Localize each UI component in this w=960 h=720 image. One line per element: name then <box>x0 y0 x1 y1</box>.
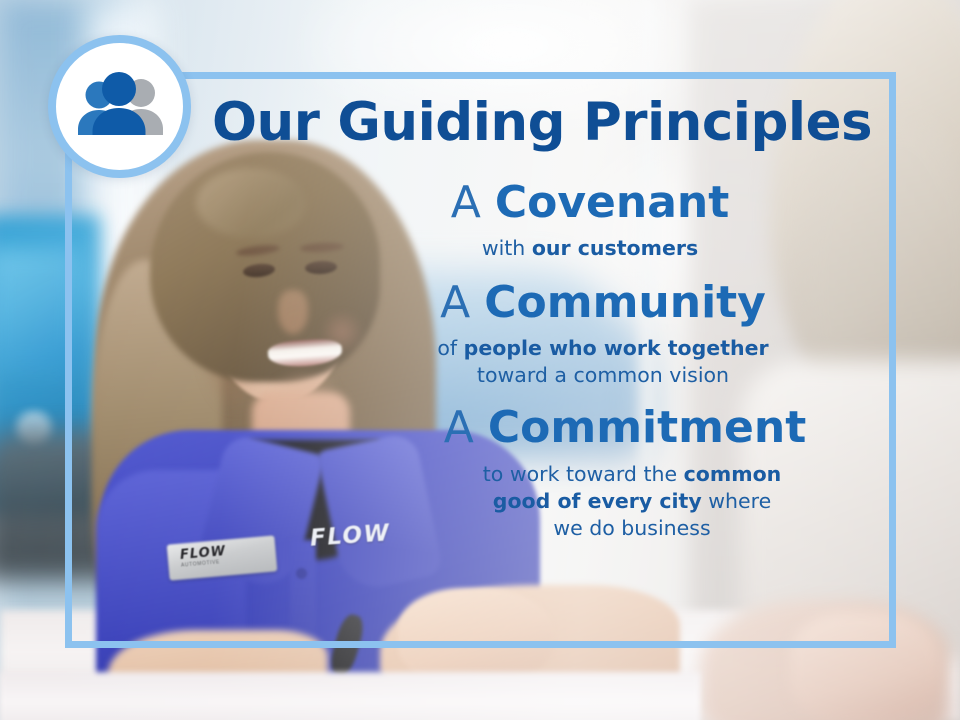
commitment-article: A <box>444 402 488 453</box>
employee-hands <box>398 588 553 683</box>
commitment-desc-line2-bold: good of every city <box>493 489 702 513</box>
community-desc-line2: toward a common vision <box>477 363 729 387</box>
employee-hair-part <box>196 168 306 238</box>
blue-display-panel-highlight <box>0 250 80 370</box>
people-badge <box>48 35 191 178</box>
page-title: Our Guiding Principles <box>212 95 872 151</box>
principle-covenant: A Covenant with our customers <box>300 178 880 262</box>
principle-community: A Community of people who work together … <box>300 278 880 388</box>
community-desc-line1-bold: people who work together <box>464 336 769 360</box>
commitment-desc-line1-bold: common <box>684 462 782 486</box>
covenant-desc-bold: our customers <box>532 236 698 260</box>
principles-list: A Covenant with our customers A Communit… <box>300 178 880 542</box>
covenant-word: Covenant <box>495 177 729 228</box>
people-group-icon <box>72 71 168 143</box>
community-word: Community <box>484 277 766 328</box>
covenant-article: A <box>451 177 495 228</box>
principle-community-title: A Community <box>326 278 880 327</box>
principle-commitment-description: to work toward the common good of every … <box>384 461 880 542</box>
commitment-desc-line2-plain: where <box>702 489 771 513</box>
guiding-principles-banner: FLOW AUTOMOTIVE FLOW Our Guiding Princip… <box>0 0 960 720</box>
table-surface <box>0 672 700 720</box>
community-desc-line1-plain: of <box>437 336 463 360</box>
commitment-desc-line3: we do business <box>553 516 710 540</box>
principle-community-description: of people who work together toward a com… <box>326 335 880 389</box>
employee-polo-button <box>296 568 307 579</box>
principle-commitment: A Commitment to work toward the common g… <box>300 403 880 542</box>
principle-covenant-title: A Covenant <box>300 178 880 227</box>
commitment-desc-line1-plain: to work toward the <box>483 462 684 486</box>
commitment-word: Commitment <box>488 402 806 453</box>
principle-commitment-title: A Commitment <box>370 403 880 452</box>
principle-covenant-description: with our customers <box>300 235 880 262</box>
covenant-desc-plain: with <box>482 236 532 260</box>
customer-hand <box>790 612 940 720</box>
community-article: A <box>440 277 484 328</box>
